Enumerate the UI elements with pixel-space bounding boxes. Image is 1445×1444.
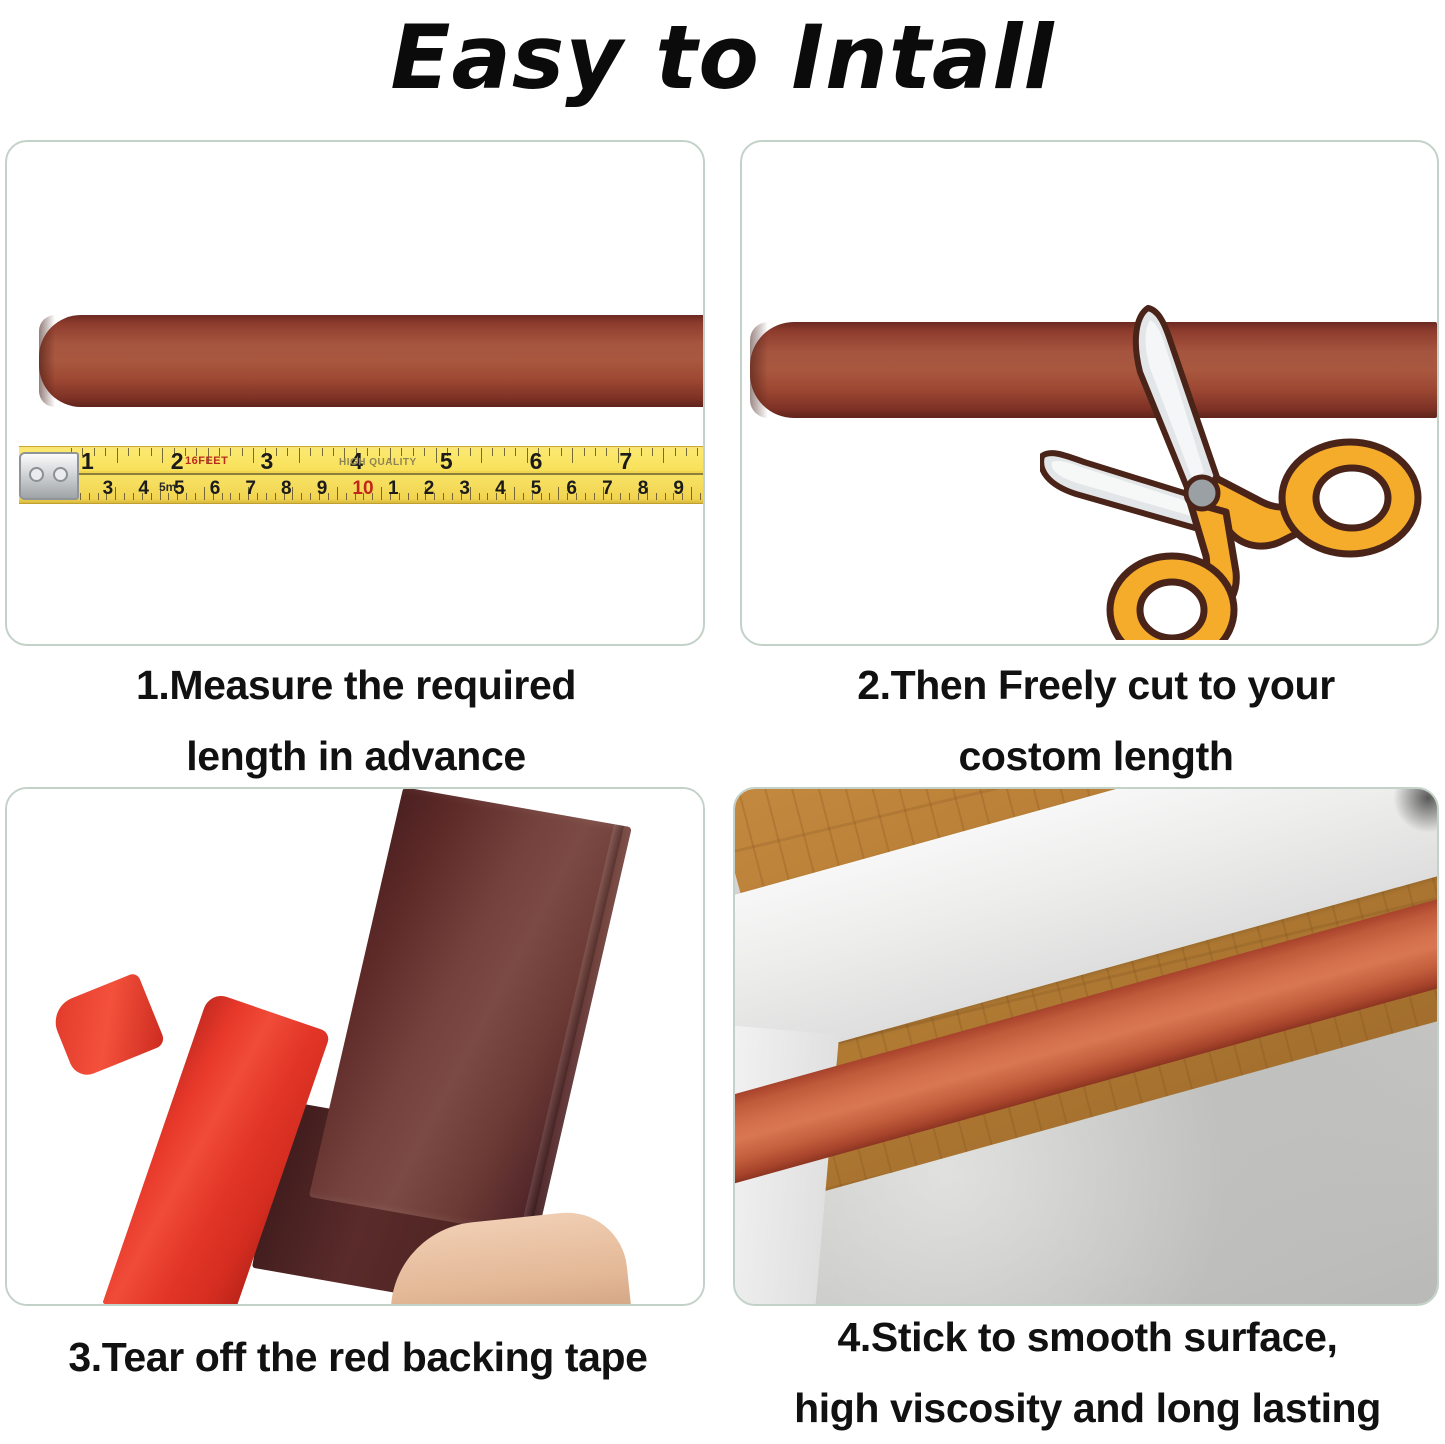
metric-mark-highlight: 10	[352, 478, 388, 500]
brown-strip-illustration	[39, 315, 705, 407]
metric-mark: 8	[638, 478, 674, 500]
tape-measure-metric-length-label: 5m	[159, 480, 176, 494]
caption-peel: 3.Tear off the red backing tape	[0, 1322, 716, 1393]
tape-measure-hook	[19, 452, 79, 500]
metric-mark: 9	[673, 478, 705, 500]
tape-measure-quality-label: HIGH QUALITY	[339, 457, 417, 468]
red-backing-tape-tip	[48, 972, 166, 1080]
inch-mark: 6	[530, 448, 620, 475]
metric-mark: 2	[424, 478, 460, 500]
caption-line: 3.Tear off the red backing tape	[0, 1322, 716, 1393]
caption-line: 1.Measure the required	[20, 650, 692, 721]
tape-measure-brand-label: 16FEET	[185, 455, 228, 467]
metric-mark: 6	[210, 478, 246, 500]
metric-mark: 8	[281, 478, 317, 500]
metric-mark: 9	[317, 478, 353, 500]
metric-mark: 4	[495, 478, 531, 500]
inch-mark: 7	[619, 448, 705, 475]
inch-mark: 3	[260, 448, 350, 475]
inch-mark: 5	[440, 448, 530, 475]
metric-mark: 7	[245, 478, 281, 500]
metric-mark: 1	[388, 478, 424, 500]
scissors-icon	[1040, 280, 1440, 640]
metric-mark: 3	[103, 478, 139, 500]
metric-mark: 5	[174, 478, 210, 500]
caption-cut: 2.Then Freely cut to your costom length	[760, 650, 1432, 792]
caption-measure: 1.Measure the required length in advance	[20, 650, 692, 792]
installed-photo-scene	[735, 789, 1437, 1304]
caption-line: high viscosity and long lasting	[730, 1373, 1445, 1444]
caption-line: length in advance	[20, 721, 692, 792]
page-title: Easy to Intall	[0, 2, 1445, 114]
caption-line: costom length	[760, 721, 1432, 792]
inch-mark: 1	[81, 448, 171, 475]
caption-stick: 4.Stick to smooth surface, high viscosit…	[730, 1302, 1445, 1444]
metric-mark: 6	[566, 478, 602, 500]
metric-mark: 3	[459, 478, 495, 500]
step-panel-peel	[5, 787, 705, 1306]
caption-line: 4.Stick to smooth surface,	[730, 1302, 1445, 1373]
step-panel-stick	[733, 787, 1439, 1306]
peel-scene	[7, 789, 703, 1304]
metric-mark: 7	[602, 478, 638, 500]
caption-line: 2.Then Freely cut to your	[760, 650, 1432, 721]
brown-strip-peeled	[309, 787, 632, 1237]
step-panel-measure: 1 2 3 4 5 6 7 2 3 4 5 6 7 8 9 10 1 2 3 4…	[5, 140, 705, 646]
metric-mark: 5	[531, 478, 567, 500]
